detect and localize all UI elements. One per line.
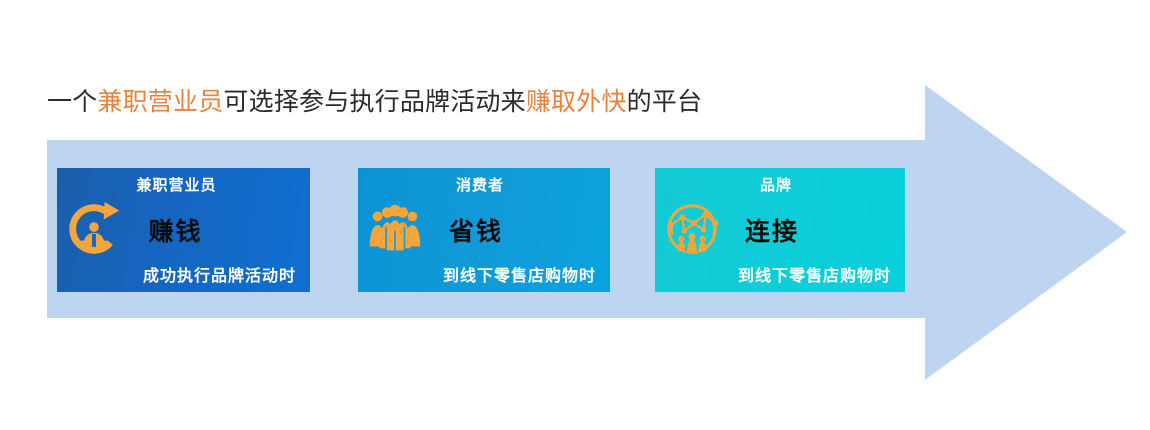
card-1-header: 兼职营业员 bbox=[57, 174, 296, 195]
slide-canvas: 一个兼职营业员可选择参与执行品牌活动来赚取外快的平台 兼职营业员 赚钱 成功执行… bbox=[0, 0, 1150, 430]
card-1-footer: 成功执行品牌活动时 bbox=[57, 262, 296, 286]
card-2-main-text: 省钱 bbox=[358, 212, 594, 248]
headline-seg-1-highlight: 兼职营业员 bbox=[97, 89, 223, 116]
card-3-main-text: 连接 bbox=[655, 212, 889, 248]
card-1-main-text: 赚钱 bbox=[57, 212, 294, 248]
headline-seg-3-highlight: 赚取外快 bbox=[526, 89, 627, 116]
card-consumer[interactable]: 消费者 省钱 到线下零售店购物时 bbox=[358, 168, 610, 292]
card-2-header: 消费者 bbox=[358, 174, 596, 195]
card-3-footer: 到线下零售店购物时 bbox=[655, 262, 891, 286]
card-3-header: 品牌 bbox=[655, 174, 891, 195]
card-part-time-clerk[interactable]: 兼职营业员 赚钱 成功执行品牌活动时 bbox=[57, 168, 310, 292]
card-2-footer: 到线下零售店购物时 bbox=[358, 262, 596, 286]
headline-seg-4: 的平台 bbox=[627, 89, 703, 116]
headline-seg-2: 可选择参与执行品牌活动来 bbox=[223, 89, 525, 116]
card-brand[interactable]: 品牌 bbox=[655, 168, 905, 292]
headline-seg-0: 一个 bbox=[47, 89, 97, 116]
page-title: 一个兼职营业员可选择参与执行品牌活动来赚取外快的平台 bbox=[47, 86, 702, 120]
